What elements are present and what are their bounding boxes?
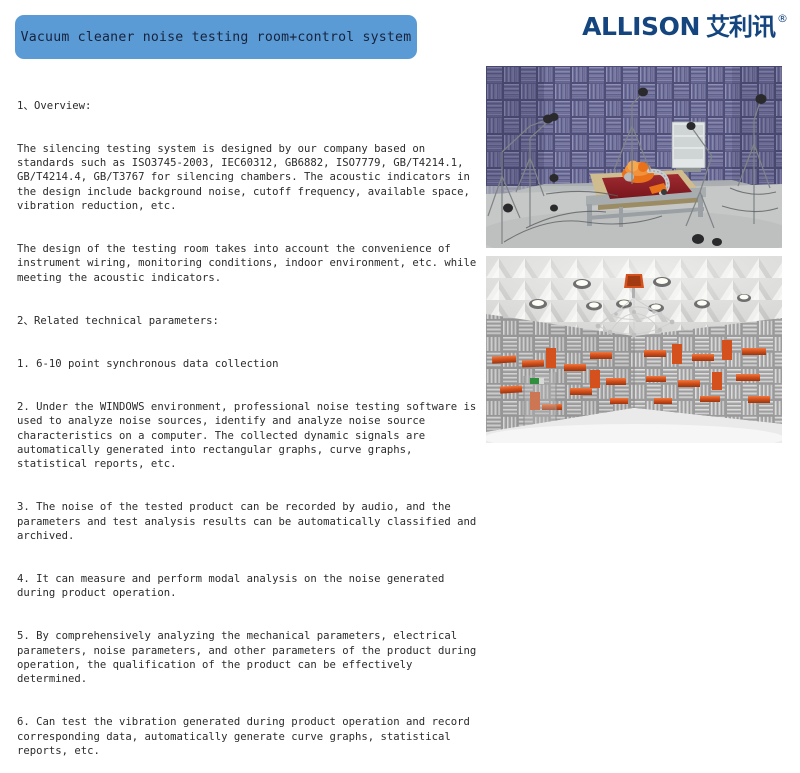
title-banner: Vacuum cleaner noise testing room+contro… bbox=[15, 15, 417, 59]
paragraph-overview-standards: The silencing testing system is designed… bbox=[17, 142, 477, 214]
allison-logo: ALLISON 艾利讯 ® bbox=[582, 12, 788, 46]
description-text-block: 1、Overview: The silencing testing system… bbox=[17, 70, 477, 773]
photo-top-illustration bbox=[486, 66, 782, 248]
photo-bottom-illustration bbox=[486, 256, 782, 443]
paragraph-param-2: 2. Under the WINDOWS environment, profes… bbox=[17, 400, 477, 472]
page-title: Vacuum cleaner noise testing room+contro… bbox=[21, 30, 412, 45]
paragraph-param-6: 6. Can test the vibration generated duri… bbox=[17, 715, 477, 758]
photo-anechoic-chamber-vacuum-test bbox=[486, 66, 782, 248]
paragraph-parameters-heading: 2、Related technical parameters: bbox=[17, 314, 477, 328]
paragraph-param-3: 3. The noise of the tested product can b… bbox=[17, 500, 477, 543]
exit-sign-icon bbox=[530, 378, 539, 384]
paragraph-overview-heading: 1、Overview: bbox=[17, 99, 477, 113]
page-header: Vacuum cleaner noise testing room+contro… bbox=[0, 0, 800, 62]
instrument-cabinet bbox=[672, 122, 705, 172]
paragraph-param-5: 5. By comprehensively analyzing the mech… bbox=[17, 629, 477, 686]
paragraph-param-4: 4. It can measure and perform modal anal… bbox=[17, 572, 477, 601]
registered-trademark-icon: ® bbox=[777, 13, 788, 24]
paragraph-room-design: The design of the testing room takes int… bbox=[17, 242, 477, 285]
paragraph-param-1: 1. 6-10 point synchronous data collectio… bbox=[17, 357, 477, 371]
logo-wordmark-text: ALLISON bbox=[582, 12, 700, 42]
photo-anechoic-chamber-interior bbox=[486, 256, 782, 443]
logo-chinese-text: 艾利讯 bbox=[706, 12, 775, 42]
